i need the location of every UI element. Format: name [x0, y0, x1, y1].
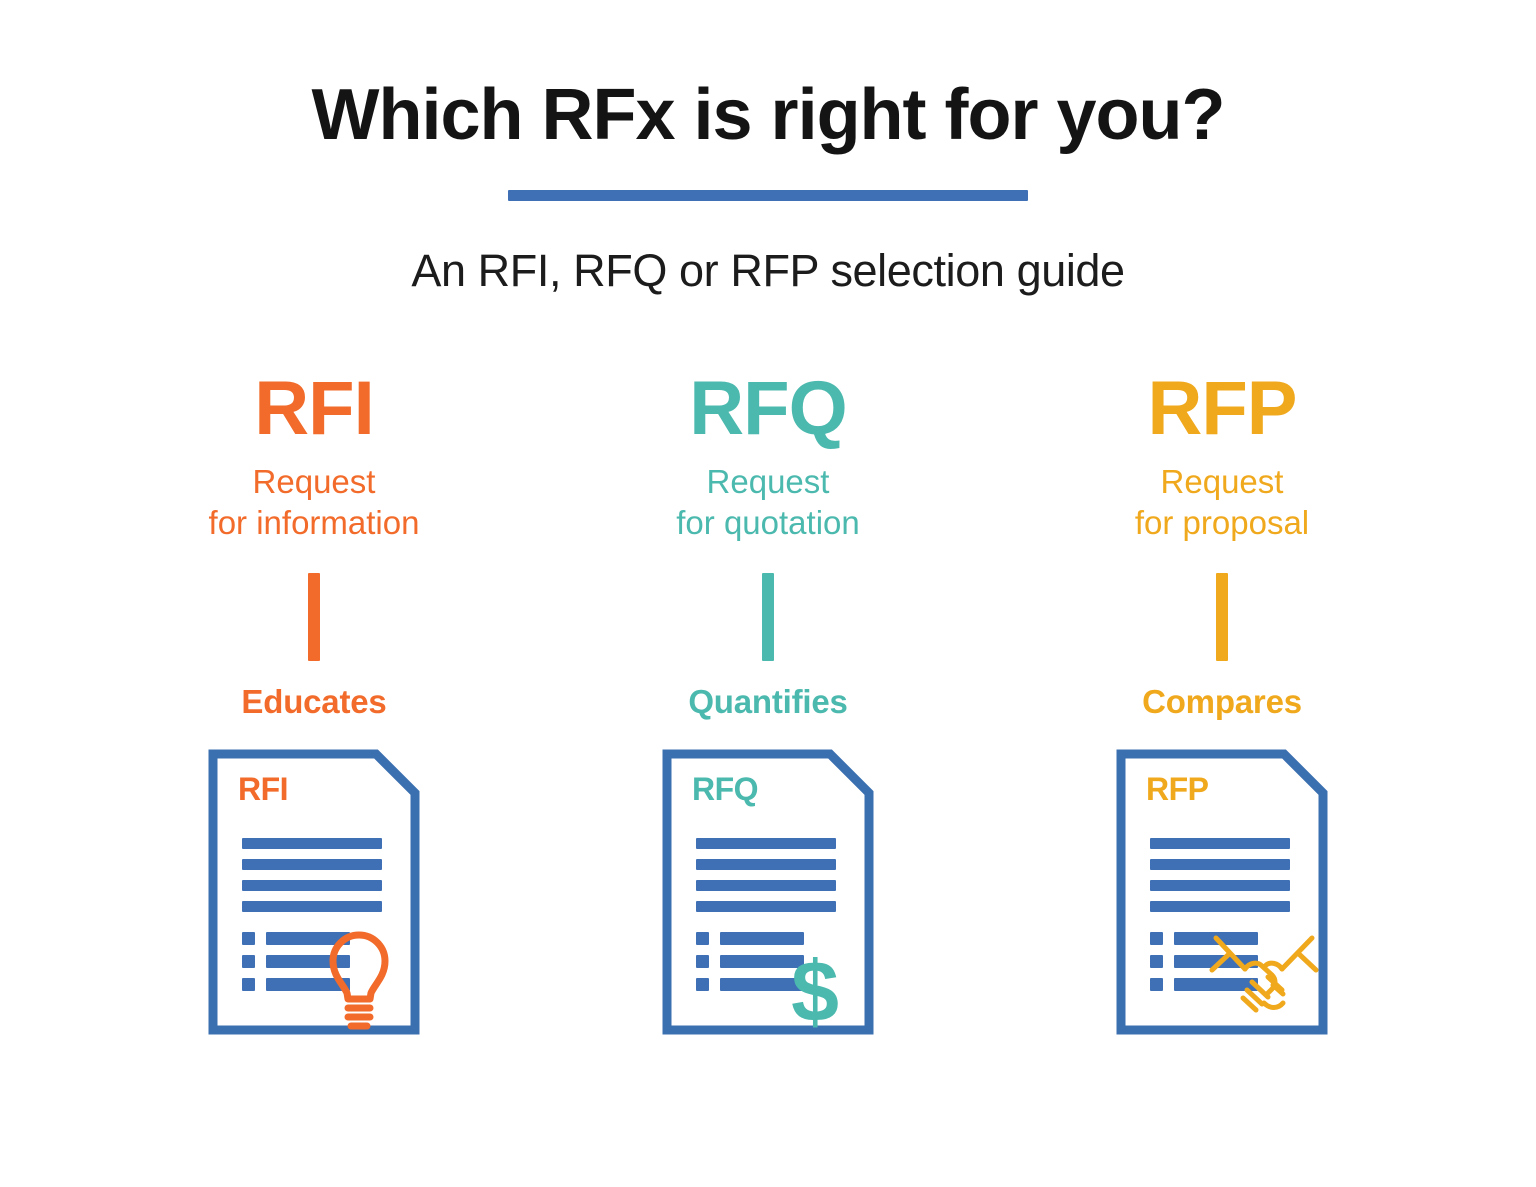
infographic-page: Which RFx is right for you? An RFI, RFQ … [0, 0, 1536, 1187]
document-card-label-rfq: RFQ [692, 771, 758, 808]
expansion-line-1: Request [676, 461, 859, 502]
document-card-label-rfi: RFI [238, 771, 288, 808]
dollar-sign-icon: $ [791, 944, 839, 1035]
page-title: Which RFx is right for you? [0, 78, 1536, 154]
title-divider [508, 190, 1028, 201]
acronym-rfq: RFQ [689, 371, 846, 447]
expansion-rfi: Request for information [209, 461, 420, 544]
expansion-line-2: for proposal [1135, 502, 1309, 543]
connector-bar-rfp [1216, 573, 1228, 661]
svg-text:$: $ [791, 944, 839, 1035]
acronym-rfp: RFP [1148, 371, 1297, 447]
verb-rfi: Educates [241, 683, 386, 721]
expansion-line-1: Request [1135, 461, 1309, 502]
rfx-column-rfi: RFI Request for information Educates [104, 371, 524, 1036]
document-card-rfq: $ RFQ [662, 749, 874, 1035]
acronym-rfi: RFI [254, 371, 373, 447]
verb-rfp: Compares [1142, 683, 1302, 721]
header: Which RFx is right for you? An RFI, RFQ … [0, 0, 1536, 297]
connector-bar-rfq [762, 573, 774, 661]
rfx-columns: RFI Request for information Educates [0, 371, 1536, 1036]
document-card-label-rfp: RFP [1146, 771, 1209, 808]
document-card-rfp: RFP [1116, 749, 1328, 1035]
expansion-line-2: for quotation [676, 502, 859, 543]
connector-bar-rfi [308, 573, 320, 661]
expansion-rfq: Request for quotation [676, 461, 859, 544]
verb-rfq: Quantifies [688, 683, 847, 721]
expansion-line-1: Request [209, 461, 420, 502]
page-subtitle: An RFI, RFQ or RFP selection guide [0, 245, 1536, 297]
expansion-line-2: for information [209, 502, 420, 543]
rfx-column-rfp: RFP Request for proposal Compares [1012, 371, 1432, 1036]
expansion-rfp: Request for proposal [1135, 461, 1309, 544]
document-card-rfi: RFI [208, 749, 420, 1035]
rfx-column-rfq: RFQ Request for quotation Quantifies [558, 371, 978, 1036]
